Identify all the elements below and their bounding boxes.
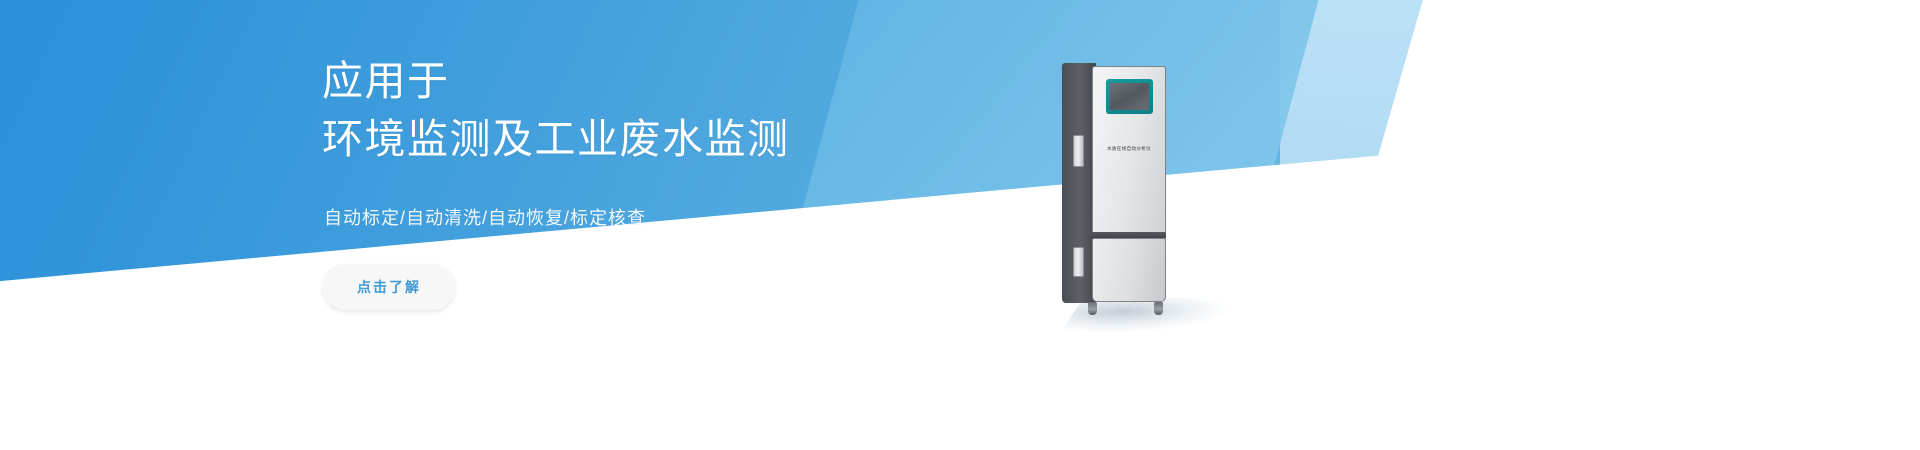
- product-label: 水质在线自动分析仪: [1093, 146, 1165, 152]
- cabinet-lower-drawer: [1092, 238, 1166, 302]
- learn-more-button[interactable]: 点击了解: [323, 264, 455, 310]
- hero-banner: 应用于 环境监测及工业废水监测 自动标定/自动清洗/自动恢复/标定核查 点击了解…: [0, 0, 1920, 450]
- subheadline: 自动标定/自动清洗/自动恢复/标定核查: [324, 204, 1022, 230]
- cabinet-side-panel: [1062, 63, 1096, 303]
- caster-wheel-left: [1088, 302, 1097, 315]
- display-screen: [1110, 83, 1149, 110]
- caster-wheel-right: [1154, 302, 1163, 315]
- cabinet-upper-door: 水质在线自动分析仪: [1092, 66, 1166, 236]
- display-screen-bezel: [1106, 79, 1153, 114]
- hero-copy: 应用于 环境监测及工业废水监测 自动标定/自动清洗/自动恢复/标定核查 点击了解: [322, 52, 1022, 310]
- product-shadow: [1061, 298, 1234, 332]
- product-analyzer-cabinet: 水质在线自动分析仪: [1062, 60, 1180, 315]
- cabinet-lower-handle-icon: [1073, 247, 1084, 277]
- headline-line-1: 应用于: [322, 52, 1022, 110]
- headline-line-2: 环境监测及工业废水监测: [322, 110, 1022, 168]
- cabinet-upper-handle-icon: [1073, 135, 1084, 167]
